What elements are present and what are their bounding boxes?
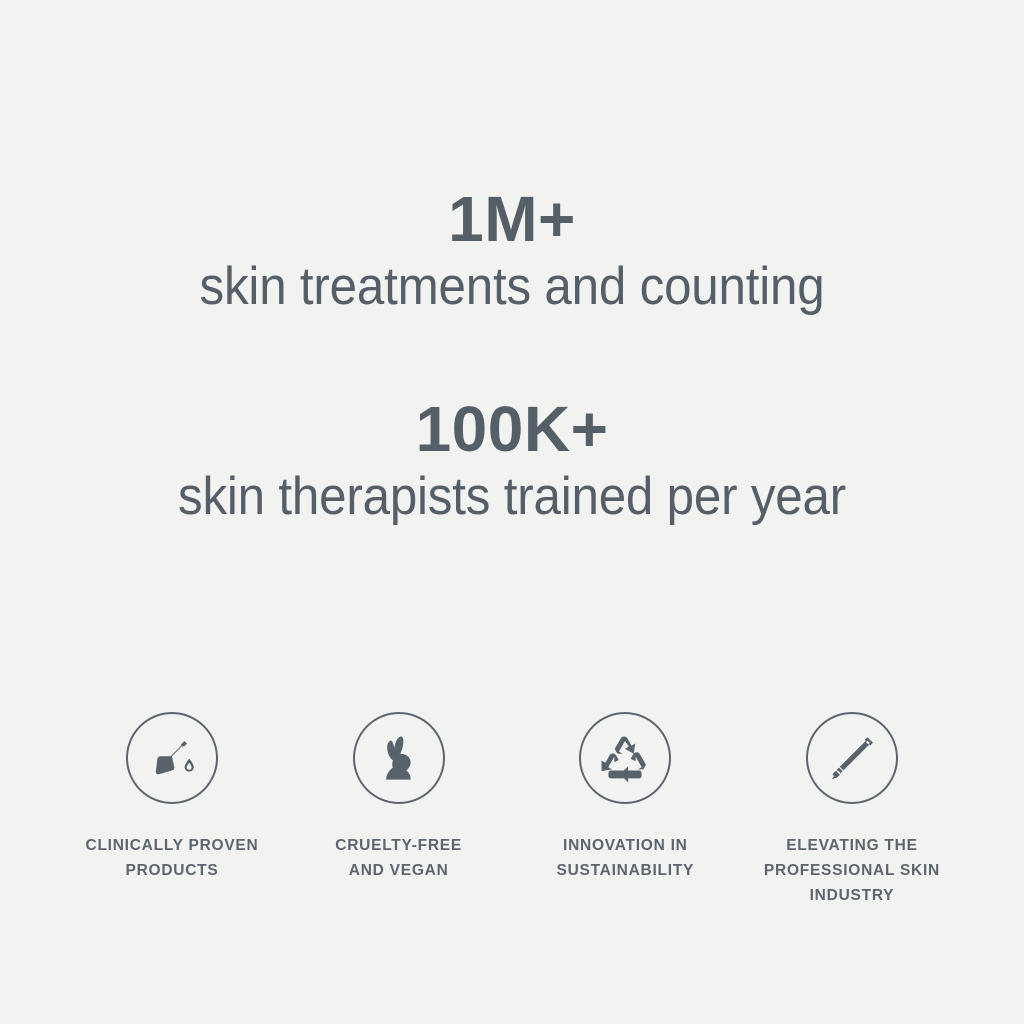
stat-number-treatments: 1M+: [0, 182, 1024, 256]
icon-circle-sustainability: [579, 712, 671, 804]
feature-clinically-proven: CLINICALLY PROVEN PRODUCTS: [62, 712, 282, 883]
feature-label-clinically-proven: CLINICALLY PROVEN PRODUCTS: [86, 833, 259, 883]
flask-droplet-icon: [146, 732, 198, 784]
stat-number-therapists: 100K+: [0, 392, 1024, 466]
stat-block-treatments: 1M+ skin treatments and counting: [0, 182, 1024, 318]
stat-caption-therapists: skin therapists trained per year: [36, 466, 988, 528]
feature-label-cruelty-free: CRUELTY-FREE AND VEGAN: [335, 833, 462, 883]
stat-caption-treatments: skin treatments and counting: [36, 256, 988, 318]
icon-circle-professional-skin: [806, 712, 898, 804]
feature-professional-skin: ELEVATING THE PROFESSIONAL SKIN INDUSTRY: [742, 712, 962, 908]
stats-section: 1M+ skin treatments and counting 100K+ s…: [0, 182, 1024, 528]
feature-cruelty-free: CRUELTY-FREE AND VEGAN: [289, 712, 509, 883]
rabbit-icon: [371, 730, 427, 786]
pen-icon: [825, 731, 879, 785]
icon-circle-cruelty-free: [353, 712, 445, 804]
brand-stats-panel: 1M+ skin treatments and counting 100K+ s…: [0, 0, 1024, 1024]
feature-label-professional-skin: ELEVATING THE PROFESSIONAL SKIN INDUSTRY: [764, 833, 940, 908]
feature-sustainability: INNOVATION IN SUSTAINABILITY: [515, 712, 735, 883]
feature-icon-row: CLINICALLY PROVEN PRODUCTS: [62, 712, 962, 908]
icon-circle-clinically-proven: [126, 712, 218, 804]
stat-block-therapists: 100K+ skin therapists trained per year: [0, 392, 1024, 528]
recycle-icon: [600, 733, 650, 783]
feature-label-sustainability: INNOVATION IN SUSTAINABILITY: [556, 833, 694, 883]
